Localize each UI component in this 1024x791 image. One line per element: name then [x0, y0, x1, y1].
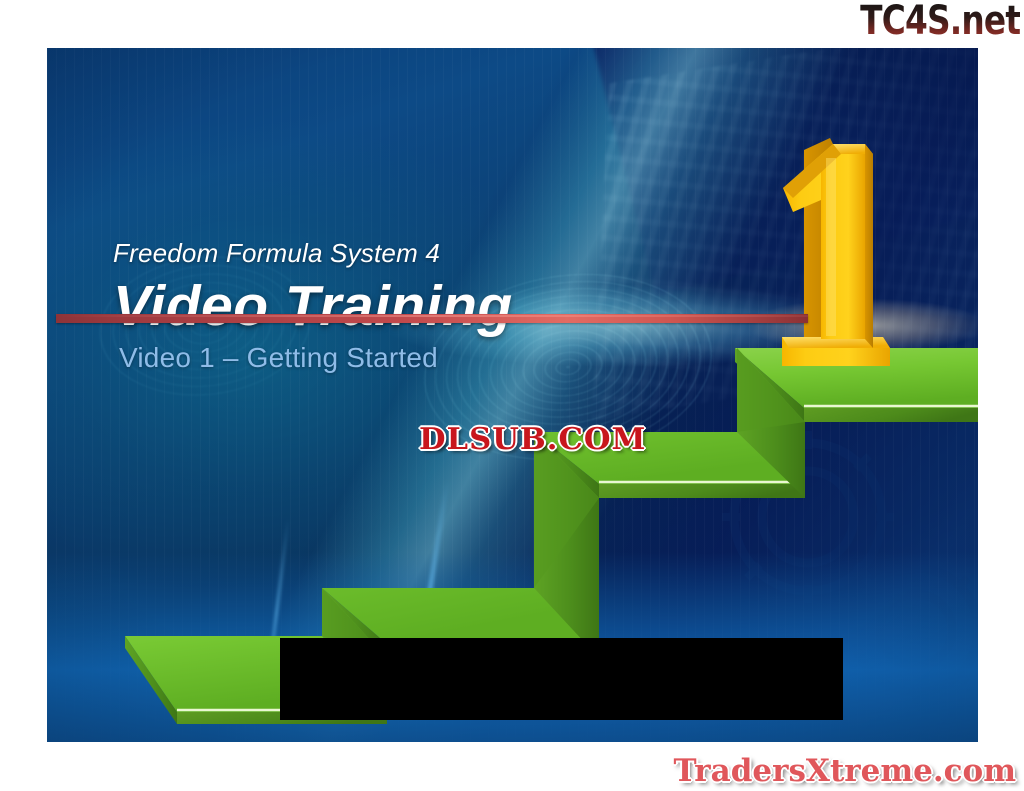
slide-headline: Video Training: [113, 273, 513, 339]
slide-eyebrow: Freedom Formula System 4: [113, 238, 440, 269]
redaction-bar: [280, 638, 843, 720]
presentation-slide: Freedom Formula System 4 Video Training …: [47, 48, 978, 742]
tc4s-watermark: TC4S.net: [860, 0, 1020, 44]
tradersxtreme-watermark: TradersXtreme.com: [673, 753, 1016, 789]
title-divider-highlight: [56, 315, 808, 317]
page-canvas: TC4S.net: [0, 0, 1024, 791]
stair-step-2: [322, 432, 599, 658]
gold-numeral-one: [782, 138, 890, 366]
dlsub-watermark: DLSUB.COM: [419, 422, 646, 457]
slide-subtitle: Video 1 – Getting Started: [119, 342, 438, 374]
